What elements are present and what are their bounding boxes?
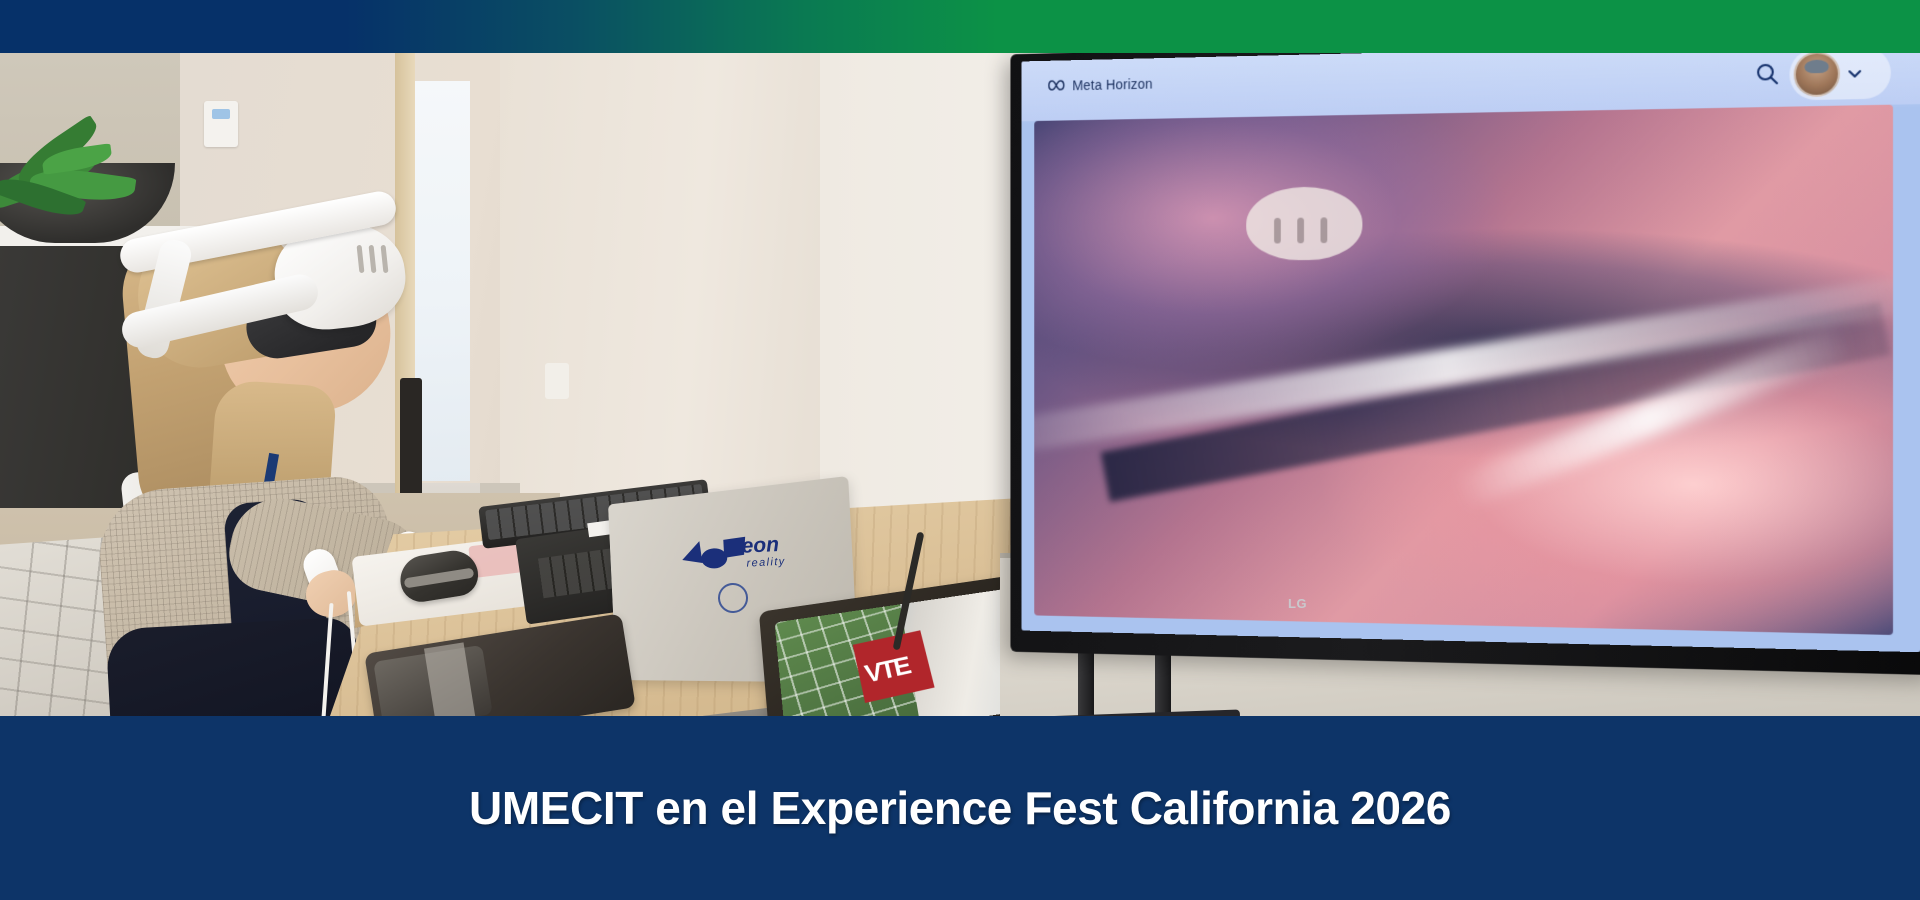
eon-reality-logo: eon reality [679, 528, 801, 578]
lg-logo: LG [1288, 596, 1307, 611]
wall-plate [204, 101, 238, 147]
tv-stand-leg [1078, 653, 1094, 716]
tv-stand-leg [1155, 651, 1171, 716]
page-title: UMECIT en el Experience Fest California … [469, 781, 1451, 835]
meta-infinity-icon [1047, 78, 1066, 94]
vr-scene-avatar-shape [1246, 186, 1362, 260]
meta-horizon-label: Meta Horizon [1072, 76, 1152, 93]
hero-photo: eon reality VTE [0, 53, 1920, 716]
search-icon[interactable] [1754, 61, 1781, 88]
television-screen: Meta Horizon [1021, 53, 1920, 652]
svg-text:reality: reality [746, 556, 786, 570]
top-gradient-bar [0, 0, 1920, 53]
wall-plate-indicator [212, 109, 230, 119]
wall-outlet [545, 363, 569, 399]
meta-horizon-vr-scene [1034, 105, 1893, 635]
title-band: UMECIT en el Experience Fest California … [0, 716, 1920, 900]
chevron-down-icon[interactable] [1846, 65, 1863, 82]
avatar[interactable] [1794, 53, 1840, 97]
meta-horizon-brand: Meta Horizon [1047, 76, 1152, 94]
photo-scene: eon reality VTE [0, 53, 1920, 716]
user-menu-chip[interactable] [1789, 53, 1890, 100]
svg-text:eon: eon [741, 533, 779, 558]
